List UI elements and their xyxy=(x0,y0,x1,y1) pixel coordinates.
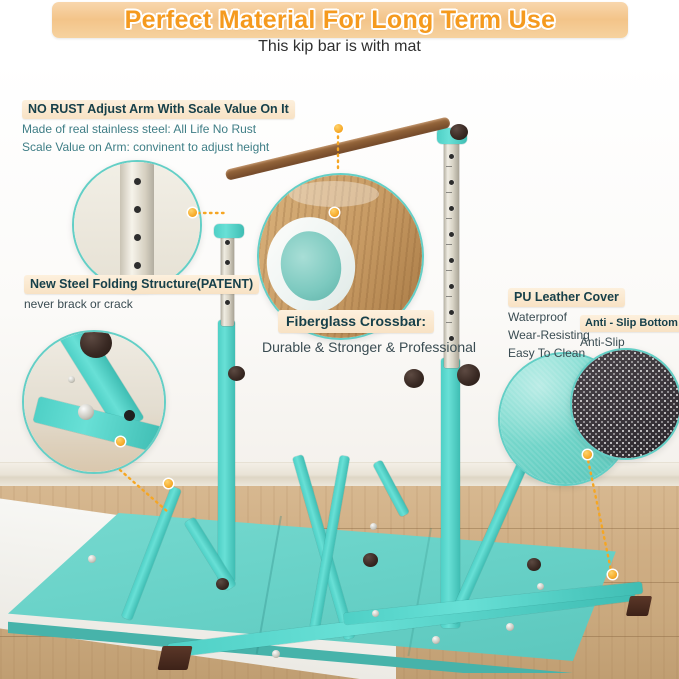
callout-line: Made of real stainless steel: All Life N… xyxy=(22,121,295,137)
callout-line: Durable & Stronger & Professional xyxy=(262,339,476,355)
page-subtitle: This kip bar is with mat xyxy=(0,38,679,56)
connector-dot xyxy=(188,208,197,217)
connector-dot xyxy=(330,208,339,217)
base-foot-left xyxy=(157,646,192,670)
right-height-knob-a xyxy=(404,369,424,388)
connector-dot xyxy=(608,570,617,579)
callout-badge: Anti - Slip Bottom xyxy=(580,315,679,332)
right-upright-teal xyxy=(441,358,460,628)
brace-knob-center xyxy=(363,553,378,567)
magnifier-circle-anti-slip-mesh xyxy=(570,348,679,460)
brace-knob-left xyxy=(216,578,229,590)
callout-line: Scale Value on Arm: convinent to adjust … xyxy=(22,139,295,155)
callout-no-rust: NO RUST Adjust Arm With Scale Value On I… xyxy=(22,100,295,155)
callout-line: never brack or crack xyxy=(24,296,259,312)
magnifier-circle-folding-joint xyxy=(22,330,166,474)
callout-line: Anti-Slip xyxy=(580,334,679,350)
connector-dot xyxy=(334,124,343,133)
callout-fiberglass-crossbar: Fiberglass Crossbar: Durable & Stronger … xyxy=(278,310,476,355)
left-height-knob xyxy=(228,366,245,381)
callout-badge: Fiberglass Crossbar: xyxy=(278,310,434,333)
base-foot-right xyxy=(626,596,652,616)
right-height-knob-b xyxy=(457,364,480,386)
brace-knob-right xyxy=(527,558,541,571)
left-bar-bracket xyxy=(214,224,244,238)
callout-badge: PU Leather Cover xyxy=(508,288,625,307)
left-upright-teal xyxy=(218,320,235,582)
magnifier-circle-steel-arm xyxy=(72,160,202,290)
header-banner: Perfect Material For Long Term Use xyxy=(52,2,628,38)
callout-folding-structure: New Steel Folding Structure(PATENT) neve… xyxy=(24,275,259,312)
page-title: Perfect Material For Long Term Use xyxy=(125,6,556,35)
connector-dot xyxy=(116,437,125,446)
right-top-cap-knob xyxy=(450,124,468,140)
callout-anti-slip-bottom: Anti - Slip Bottom Anti-Slip xyxy=(580,313,679,350)
connector-dot xyxy=(583,450,592,459)
callout-badge: NO RUST Adjust Arm With Scale Value On I… xyxy=(22,100,295,119)
infographic-canvas: Perfect Material For Long Term Use This … xyxy=(0,0,679,679)
callout-badge: New Steel Folding Structure(PATENT) xyxy=(24,275,259,294)
connector-dot xyxy=(164,479,173,488)
